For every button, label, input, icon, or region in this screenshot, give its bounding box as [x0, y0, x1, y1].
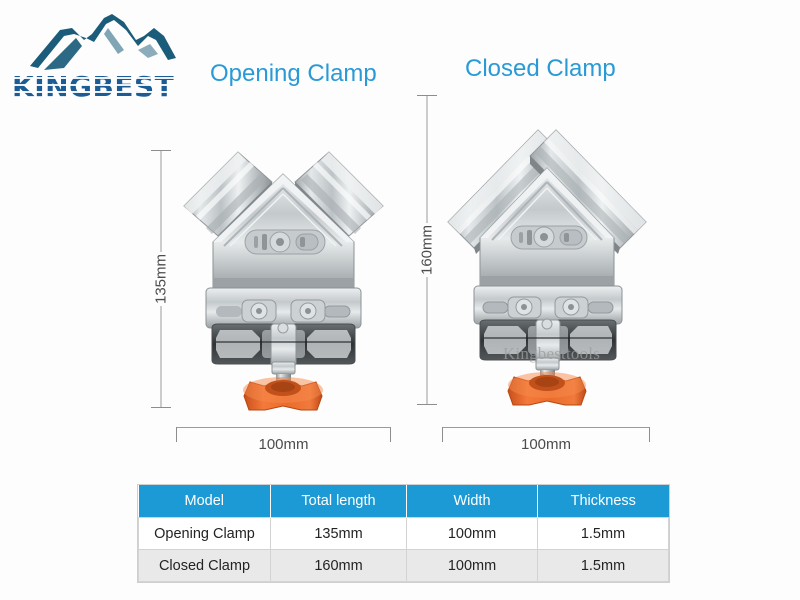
cell-model: Opening Clamp: [139, 518, 271, 550]
clamp-mounting-plate: [206, 288, 361, 328]
spec-table: Model Total length Width Thickness Openi…: [138, 485, 669, 582]
bolt-head-left: [508, 297, 541, 318]
table-row: Closed Clamp 160mm 100mm 1.5mm: [139, 550, 669, 582]
cell-width: 100mm: [407, 518, 538, 550]
dimension-cap-bottom: [151, 407, 171, 408]
clamp-emblem: [245, 230, 325, 254]
dimension-line: [176, 427, 391, 428]
cell-thickness: 1.5mm: [538, 550, 669, 582]
bolt-head-left: [242, 300, 276, 322]
table-header-row: Model Total length Width Thickness: [139, 485, 669, 518]
brand-name-text: KINGBEST: [12, 70, 174, 103]
dimension-left-vertical: 135mm: [148, 150, 174, 408]
dimension-cap-top: [151, 150, 171, 151]
clamp-emblem: [511, 226, 587, 249]
product-image-closed-clamp: [442, 100, 652, 412]
infographic-canvas: KINGBEST Opening Clamp Closed Clamp 135m…: [0, 0, 800, 600]
bolt-head-right: [555, 297, 588, 318]
brand-logo: KINGBEST: [8, 6, 193, 102]
dimension-line: [442, 427, 650, 428]
column-header-total-length: Total length: [271, 485, 407, 518]
cell-total-length: 135mm: [271, 518, 407, 550]
cell-total-length: 160mm: [271, 550, 407, 582]
clamp-jaw-block: [212, 323, 355, 366]
dimension-label-100mm-left: 100mm: [258, 436, 308, 453]
cell-width: 100mm: [407, 550, 538, 582]
product-image-opening-clamp: [176, 138, 391, 413]
watermark-text: Kingbesttools: [503, 344, 600, 364]
column-header-width: Width: [407, 485, 538, 518]
clamp-orange-knob: [508, 372, 586, 405]
column-header-thickness: Thickness: [538, 485, 669, 518]
dimension-label-135mm: 135mm: [150, 252, 173, 306]
heading-opening-clamp: Opening Clamp: [210, 60, 377, 88]
dimension-cap-bottom: [417, 404, 437, 405]
dimension-cap-top: [417, 95, 437, 96]
column-header-model: Model: [139, 485, 271, 518]
heading-closed-clamp: Closed Clamp: [465, 55, 616, 83]
dimension-cap-right: [390, 427, 391, 442]
table-row: Opening Clamp 135mm 100mm 1.5mm: [139, 518, 669, 550]
dimension-cap-left: [176, 427, 177, 442]
bolt-head-right: [291, 300, 325, 322]
dimension-cap-left: [442, 427, 443, 442]
clamp-mounting-plate: [474, 286, 622, 324]
brand-wordmark: KINGBEST: [12, 72, 192, 102]
clamp-orange-knob: [243, 377, 323, 410]
dimension-right-vertical: 160mm: [414, 95, 440, 405]
dimension-cap-right: [649, 427, 650, 442]
dimension-label-100mm-right: 100mm: [521, 436, 571, 453]
cell-thickness: 1.5mm: [538, 518, 669, 550]
cell-model: Closed Clamp: [139, 550, 271, 582]
mountain-range-icon: [8, 6, 193, 72]
dimension-label-160mm: 160mm: [416, 223, 439, 277]
